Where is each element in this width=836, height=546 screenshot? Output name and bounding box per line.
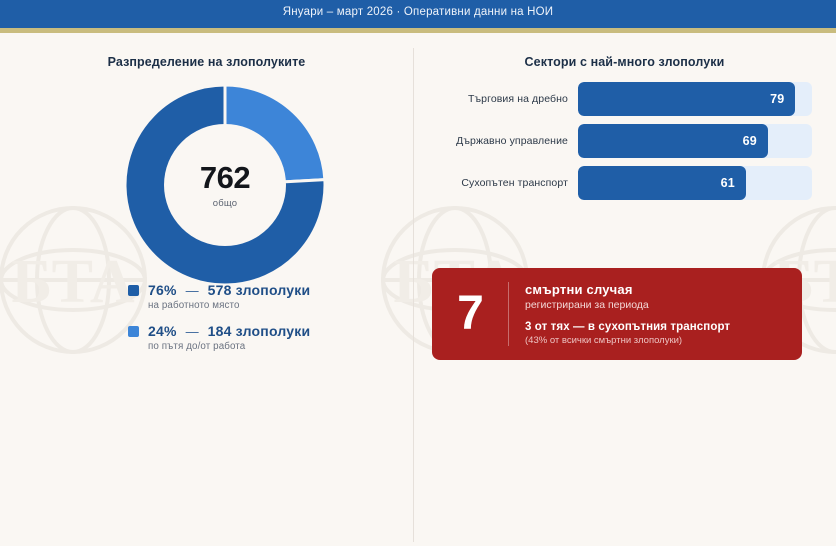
bar-row: Сухопътен транспорт 61 <box>432 166 812 200</box>
bar-row: Търговия на дребно 79 <box>432 82 812 116</box>
legend-count: 184 злополуки <box>208 323 311 339</box>
infographic-canvas: БТА БТА БТА <box>0 0 836 546</box>
bar-value: 79 <box>770 92 795 106</box>
bar-track: 79 <box>578 82 812 116</box>
donut-chart: 762 общо <box>125 85 325 285</box>
left-panel-title: Разпределение на злополуките <box>0 55 413 69</box>
legend-item-workplace: 76% — 578 злополуки на работното място <box>128 282 408 311</box>
bar-fill: 79 <box>578 82 795 116</box>
fatality-count: 7 <box>432 290 508 338</box>
bar-row: Държавно управление 69 <box>432 124 812 158</box>
bar-track: 61 <box>578 166 812 200</box>
fatality-note: 3 от тях — в сухопътния транспорт <box>525 321 730 333</box>
bar-value: 61 <box>721 176 746 190</box>
donut-svg <box>125 85 325 285</box>
bar-label: Сухопътен транспорт <box>432 177 578 189</box>
bar-track: 69 <box>578 124 812 158</box>
svg-text:БТА: БТА <box>11 248 134 316</box>
legend-percent: 76% <box>148 282 177 298</box>
fatality-title: смъртни случая <box>525 282 730 297</box>
legend-percent: 24% <box>148 323 177 339</box>
legend-count: 578 злополуки <box>208 282 311 298</box>
fatality-note-sub: (43% от всички смъртни злополуки) <box>525 335 730 346</box>
legend-sublabel: по пътя до/от работа <box>148 341 408 352</box>
legend-dash: — <box>186 283 199 298</box>
legend-item-commute: 24% — 184 злополуки по пътя до/от работа <box>128 323 408 352</box>
bar-fill: 69 <box>578 124 768 158</box>
fatality-card: 7 смъртни случая регистрирани за периода… <box>432 268 802 360</box>
bar-value: 69 <box>743 134 768 148</box>
legend-dash: — <box>186 324 199 339</box>
legend-swatch-icon <box>128 285 139 296</box>
bar-label: Държавно управление <box>432 135 578 147</box>
legend-sublabel: на работното място <box>148 300 408 311</box>
header-band: Януари – март 2026 · Оперативни данни на… <box>0 0 836 28</box>
fatality-subtitle: регистрирани за периода <box>525 299 730 311</box>
legend-swatch-icon <box>128 326 139 337</box>
bar-label: Търговия на дребно <box>432 93 578 105</box>
right-panel-title: Сектори с най-много злополуки <box>413 55 836 69</box>
sector-bar-chart: Търговия на дребно 79 Държавно управлени… <box>432 82 812 208</box>
header-title: Януари – март 2026 · Оперативни данни на… <box>0 0 836 28</box>
fatality-card-body: смъртни случая регистрирани за периода 3… <box>509 282 740 346</box>
panel-divider <box>413 48 414 542</box>
donut-legend: 76% — 578 злополуки на работното място 2… <box>128 282 408 364</box>
header-gold-rule <box>0 28 836 33</box>
bar-fill: 61 <box>578 166 746 200</box>
